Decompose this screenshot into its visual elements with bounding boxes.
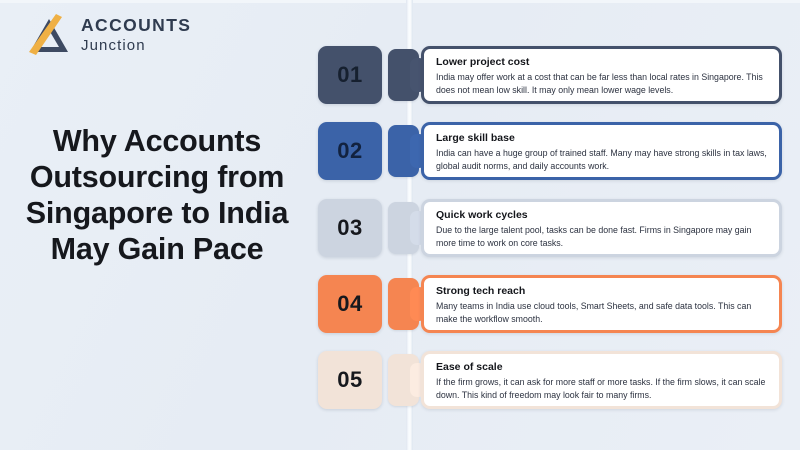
- item-body: India can have a huge group of trained s…: [436, 147, 769, 172]
- item-body: Many teams in India use cloud tools, Sma…: [436, 300, 769, 325]
- benefits-list: 01 Lower project cost India may offer wo…: [0, 0, 800, 450]
- infographic-slide: ACCOUNTS Junction Why Accounts Outsourci…: [0, 0, 800, 450]
- item-card: Strong tech reach Many teams in India us…: [421, 275, 782, 333]
- item-title: Strong tech reach: [436, 285, 769, 298]
- item-card: Ease of scale If the firm grows, it can …: [421, 351, 782, 409]
- list-item: 01 Lower project cost India may offer wo…: [318, 46, 782, 104]
- item-number: 05: [337, 367, 362, 393]
- item-connector-tab: [388, 125, 419, 177]
- item-number-badge: 03: [318, 199, 382, 257]
- item-body: Due to the large talent pool, tasks can …: [436, 224, 769, 249]
- item-title: Quick work cycles: [436, 209, 769, 222]
- item-number-badge: 01: [318, 46, 382, 104]
- item-title: Ease of scale: [436, 361, 769, 374]
- list-item: 02 Large skill base India can have a hug…: [318, 122, 782, 180]
- item-connector-tab: [388, 278, 419, 330]
- item-card: Large skill base India can have a huge g…: [421, 122, 782, 180]
- item-card: Lower project cost India may offer work …: [421, 46, 782, 104]
- item-connector-tab: [388, 49, 419, 101]
- item-number: 03: [337, 215, 362, 241]
- item-connector-tab: [388, 354, 419, 406]
- item-body: India may offer work at a cost that can …: [436, 71, 769, 96]
- item-connector-tab: [388, 202, 419, 254]
- list-item: 04 Strong tech reach Many teams in India…: [318, 275, 782, 333]
- item-number-badge: 05: [318, 351, 382, 409]
- item-number-badge: 02: [318, 122, 382, 180]
- item-number-badge: 04: [318, 275, 382, 333]
- item-title: Large skill base: [436, 132, 769, 145]
- item-card: Quick work cycles Due to the large talen…: [421, 199, 782, 257]
- item-number: 01: [337, 62, 362, 88]
- list-item: 03 Quick work cycles Due to the large ta…: [318, 199, 782, 257]
- item-title: Lower project cost: [436, 56, 769, 69]
- item-number: 04: [337, 291, 362, 317]
- list-item: 05 Ease of scale If the firm grows, it c…: [318, 351, 782, 409]
- item-body: If the firm grows, it can ask for more s…: [436, 376, 769, 401]
- item-number: 02: [337, 138, 362, 164]
